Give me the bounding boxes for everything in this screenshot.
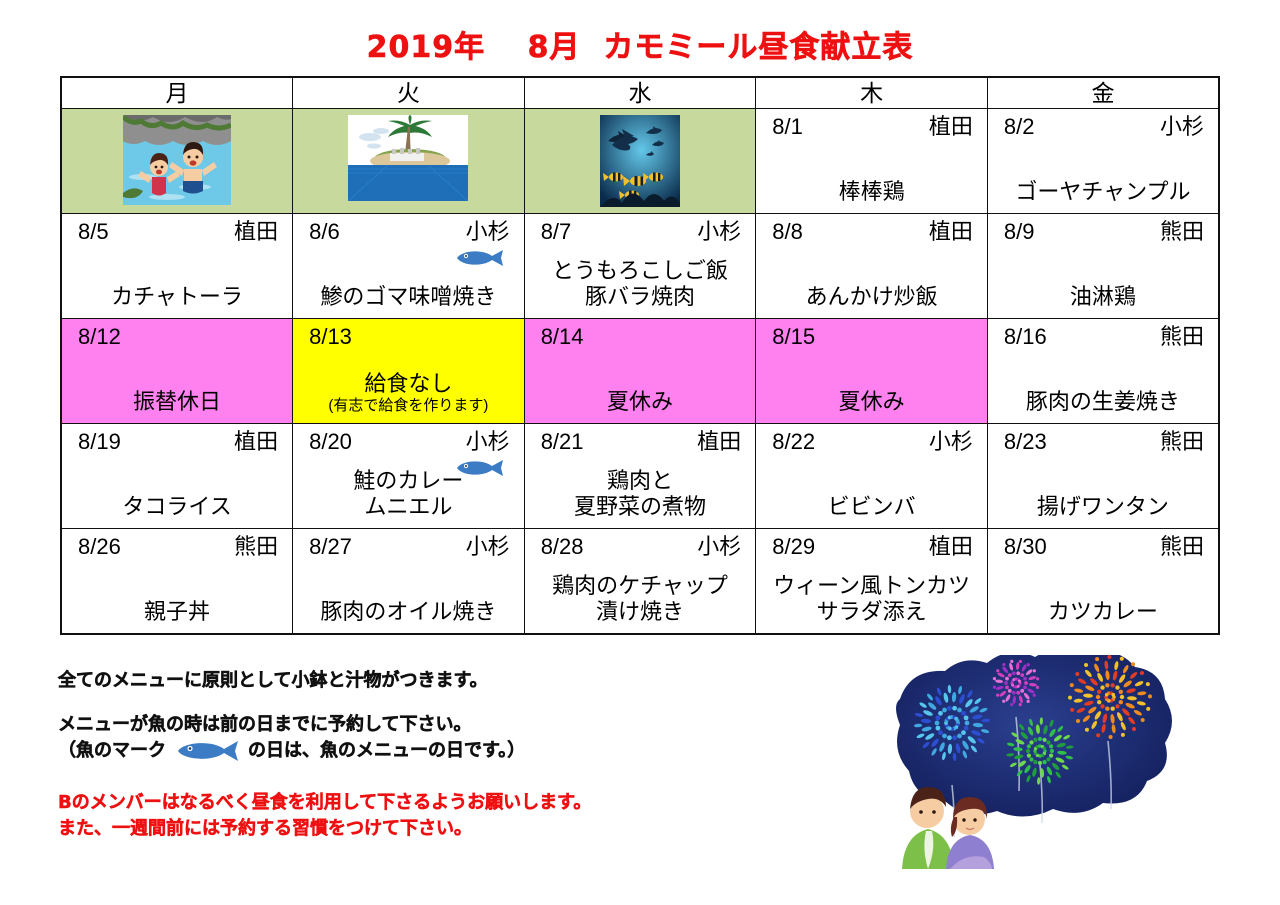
cell-header: 8/12 (62, 319, 292, 351)
cell-chef: 植田 (929, 533, 973, 561)
cell-menu-line2: 豚バラ焼肉 (529, 284, 752, 310)
cell-date: 8/14 (541, 323, 584, 351)
fish-icon (452, 248, 506, 268)
cell-chef: 小杉 (697, 218, 741, 246)
cell-header: 8/5植田 (62, 214, 292, 246)
cell-menu-line1: 鯵のゴマ味噌焼き (320, 284, 496, 309)
cell-chef: 植田 (929, 113, 973, 141)
calendar-cell-8-5[interactable]: 8/5植田カチャトーラ (61, 214, 293, 319)
cell-menu-line1: 豚肉のオイル焼き (320, 599, 496, 624)
weekday-header-thursday: 木 (756, 77, 988, 109)
cell-date: 8/6 (309, 218, 340, 246)
calendar-cell-8-8[interactable]: 8/8植田あんかけ炒飯 (756, 214, 988, 319)
cell-date: 8/9 (1004, 218, 1035, 246)
calendar-cell-8-16[interactable]: 8/16熊田豚肉の生姜焼き (987, 319, 1219, 424)
cell-menu: ゴーヤチャンプル (988, 179, 1218, 205)
page-title: 2019年 8月 カモミール昼食献立表 (0, 0, 1280, 76)
calendar-cell-8-13[interactable]: 8/13給食なし(有志で給食を作ります) (293, 319, 525, 424)
cell-date: 8/20 (309, 428, 352, 456)
cell-menu-line1: ビビンバ (828, 494, 916, 519)
cell-header: 8/15 (756, 319, 987, 351)
cell-menu-line1: ウィーン風トンカツ (773, 573, 970, 598)
cell-header: 8/23熊田 (988, 424, 1218, 456)
cell-header: 8/14 (525, 319, 756, 351)
calendar-week-row: 8/1植田棒棒鶏8/2小杉ゴーヤチャンプル (61, 109, 1219, 214)
cell-header: 8/22小杉 (756, 424, 987, 456)
cell-menu-subnote: (有志で給食を作ります) (297, 397, 520, 415)
cell-menu-line1: 給食なし (364, 371, 452, 396)
cell-menu: 豚肉の生姜焼き (988, 389, 1218, 415)
cell-menu-line1: 振替休日 (133, 389, 221, 414)
cell-header: 8/26熊田 (62, 529, 292, 561)
cell-date: 8/29 (772, 533, 815, 561)
cell-date: 8/28 (541, 533, 584, 561)
cell-menu-line1: 油淋鶏 (1070, 284, 1136, 309)
lunch-menu-calendar: 月 火 水 木 金 8/1植田棒棒鶏8/2小杉ゴーヤチャンプル8/5植田カチャト… (60, 76, 1220, 635)
calendar-cell-8-27[interactable]: 8/27小杉豚肉のオイル焼き (293, 529, 525, 635)
cell-menu: カツカレー (988, 599, 1218, 625)
cell-date: 8/19 (78, 428, 121, 456)
cell-menu: 揚げワンタン (988, 494, 1218, 520)
cell-menu: 鶏肉のケチャップ漬け焼き (525, 573, 756, 625)
cell-header: 8/30熊田 (988, 529, 1218, 561)
cell-date: 8/1 (772, 113, 803, 141)
cell-menu-line1: 親子丼 (144, 599, 210, 624)
calendar-cell-8-7[interactable]: 8/7小杉とうもろこしご飯豚バラ焼肉 (524, 214, 756, 319)
fish-icon (172, 739, 242, 763)
kids-swimming-illustration (62, 115, 292, 205)
calendar-cell-8-22[interactable]: 8/22小杉ビビンバ (756, 424, 988, 529)
weekday-header-wednesday: 水 (524, 77, 756, 109)
cell-chef: 小杉 (466, 428, 510, 456)
cell-date: 8/22 (772, 428, 815, 456)
cell-menu: 夏休み (525, 389, 756, 415)
cell-menu-line1: ゴーヤチャンプル (1015, 179, 1190, 204)
calendar-cell-8-30[interactable]: 8/30熊田カツカレー (987, 529, 1219, 635)
cell-menu-line1: 鮭のカレー (353, 468, 463, 493)
cell-header: 8/28小杉 (525, 529, 756, 561)
cell-date: 8/5 (78, 218, 109, 246)
cell-chef: 小杉 (697, 533, 741, 561)
cell-menu: あんかけ炒飯 (756, 284, 987, 310)
note-fish-mark-legend: （魚のマークの日は、魚のメニューの日です。） (58, 738, 698, 764)
calendar-container: 月 火 水 木 金 8/1植田棒棒鶏8/2小杉ゴーヤチャンプル8/5植田カチャト… (60, 76, 1220, 635)
cell-header: 8/1植田 (756, 109, 987, 141)
cell-date: 8/12 (78, 323, 121, 351)
cell-menu-line1: 揚げワンタン (1037, 494, 1169, 519)
cell-header: 8/16熊田 (988, 319, 1218, 351)
calendar-week-row: 8/19植田タコライス8/20小杉鮭のカレームニエル8/21植田鶏肉と夏野菜の煮… (61, 424, 1219, 529)
cell-menu: とうもろこしご飯豚バラ焼肉 (525, 258, 756, 310)
cell-chef: 小杉 (466, 218, 510, 246)
cell-header: 8/13 (293, 319, 524, 351)
note-fish-reservation: メニューが魚の時は前の日までに予約して下さい。 (58, 712, 698, 738)
cell-header: 8/19植田 (62, 424, 292, 456)
cell-header: 8/27小杉 (293, 529, 524, 561)
weekday-header-monday: 月 (61, 77, 293, 109)
cell-menu-line1: 夏休み (839, 389, 905, 414)
cell-header: 8/7小杉 (525, 214, 756, 246)
cell-menu-line1: とうもろこしご飯 (552, 258, 728, 283)
note-fish-mark-suffix: の日は、魚のメニューの日です。） (248, 740, 525, 761)
fireworks-couple-yukata-illustration (840, 655, 1240, 895)
cell-chef: 熊田 (1160, 218, 1204, 246)
island-palm-tree-illustration (293, 115, 524, 201)
cell-menu: 棒棒鶏 (756, 179, 987, 205)
cell-menu: タコライス (62, 494, 292, 520)
calendar-week-row: 8/12振替休日8/13給食なし(有志で給食を作ります)8/14夏休み8/15夏… (61, 319, 1219, 424)
cell-menu: 親子丼 (62, 599, 292, 625)
cell-menu-line1: 夏休み (607, 389, 673, 414)
calendar-cell-8-15[interactable]: 8/15夏休み (756, 319, 988, 424)
cell-chef: 植田 (697, 428, 741, 456)
cell-menu: 夏休み (756, 389, 987, 415)
cell-menu-line1: カチャトーラ (111, 284, 243, 309)
cell-date: 8/21 (541, 428, 584, 456)
calendar-cell-8-1[interactable]: 8/1植田棒棒鶏 (756, 109, 988, 214)
note-member-request: Bのメンバーはなるべく昼食を利用して下さるようお願いします。 (58, 790, 698, 816)
underwater-fish-illustration (525, 115, 756, 207)
cell-menu: ウィーン風トンカツサラダ添え (756, 573, 987, 625)
cell-chef: 熊田 (234, 533, 278, 561)
cell-menu-line1: カツカレー (1048, 599, 1158, 624)
calendar-cell-8-19[interactable]: 8/19植田タコライス (61, 424, 293, 529)
cell-menu: 鮭のカレームニエル (293, 468, 524, 520)
cell-menu: カチャトーラ (62, 284, 292, 310)
cell-menu: 振替休日 (62, 389, 292, 415)
weekday-header-tuesday: 火 (293, 77, 525, 109)
cell-date: 8/7 (541, 218, 572, 246)
cell-header: 8/9熊田 (988, 214, 1218, 246)
calendar-cell-decoration (293, 109, 525, 214)
cell-chef: 熊田 (1160, 533, 1204, 561)
calendar-week-row: 8/26熊田親子丼8/27小杉豚肉のオイル焼き8/28小杉鶏肉のケチャップ漬け焼… (61, 529, 1219, 635)
cell-date: 8/23 (1004, 428, 1047, 456)
cell-menu-line1: 鶏肉のケチャップ (552, 573, 728, 598)
cell-header: 8/29植田 (756, 529, 987, 561)
cell-chef: 小杉 (929, 428, 973, 456)
cell-menu-line2: サラダ添え (760, 599, 983, 625)
calendar-cell-8-20[interactable]: 8/20小杉鮭のカレームニエル (293, 424, 525, 529)
cell-header: 8/20小杉 (293, 424, 524, 456)
calendar-cell-8-23[interactable]: 8/23熊田揚げワンタン (987, 424, 1219, 529)
cell-chef: 小杉 (1160, 113, 1204, 141)
cell-date: 8/27 (309, 533, 352, 561)
cell-date: 8/30 (1004, 533, 1047, 561)
cell-menu-line2: 漬け焼き (529, 599, 752, 625)
calendar-cell-8-28[interactable]: 8/28小杉鶏肉のケチャップ漬け焼き (524, 529, 756, 635)
note-fish-mark-prefix: （魚のマーク (58, 740, 166, 761)
cell-menu: 豚肉のオイル焼き (293, 599, 524, 625)
cell-menu: 鯵のゴマ味噌焼き (293, 284, 524, 310)
cell-header: 8/8植田 (756, 214, 987, 246)
calendar-cell-8-9[interactable]: 8/9熊田油淋鶏 (987, 214, 1219, 319)
cell-date: 8/15 (772, 323, 815, 351)
note-side-dishes: 全てのメニューに原則として小鉢と汁物がつきます。 (58, 668, 698, 694)
calendar-cell-8-21[interactable]: 8/21植田鶏肉と夏野菜の煮物 (524, 424, 756, 529)
cell-chef: 熊田 (1160, 428, 1204, 456)
calendar-body: 8/1植田棒棒鶏8/2小杉ゴーヤチャンプル8/5植田カチャトーラ8/6小杉鯵のゴ… (61, 109, 1219, 635)
cell-date: 8/2 (1004, 113, 1035, 141)
cell-menu: 鶏肉と夏野菜の煮物 (525, 468, 756, 520)
cell-header: 8/21植田 (525, 424, 756, 456)
cell-menu-line2: 夏野菜の煮物 (529, 494, 752, 520)
calendar-cell-8-29[interactable]: 8/29植田ウィーン風トンカツサラダ添え (756, 529, 988, 635)
calendar-cell-8-12[interactable]: 8/12振替休日 (61, 319, 293, 424)
cell-menu: 油淋鶏 (988, 284, 1218, 310)
calendar-cell-decoration (524, 109, 756, 214)
cell-date: 8/26 (78, 533, 121, 561)
cell-chef: 植田 (234, 218, 278, 246)
calendar-cell-decoration (61, 109, 293, 214)
cell-menu-line1: タコライス (122, 494, 231, 519)
cell-chef: 小杉 (466, 533, 510, 561)
calendar-cell-8-6[interactable]: 8/6小杉鯵のゴマ味噌焼き (293, 214, 525, 319)
calendar-cell-8-14[interactable]: 8/14夏休み (524, 319, 756, 424)
cell-menu: ビビンバ (756, 494, 987, 520)
weekday-header-friday: 金 (987, 77, 1219, 109)
cell-chef: 植田 (929, 218, 973, 246)
notes-section: 全てのメニューに原則として小鉢と汁物がつきます。 メニューが魚の時は前の日までに… (58, 668, 698, 842)
cell-date: 8/16 (1004, 323, 1047, 351)
cell-header: 8/6小杉 (293, 214, 524, 246)
cell-menu-line1: 棒棒鶏 (839, 179, 905, 204)
calendar-cell-8-2[interactable]: 8/2小杉ゴーヤチャンプル (987, 109, 1219, 214)
cell-date: 8/13 (309, 323, 352, 351)
cell-menu-line1: 鶏肉と (607, 468, 673, 493)
cell-header: 8/2小杉 (988, 109, 1218, 141)
weekday-header-row: 月 火 水 木 金 (61, 77, 1219, 109)
cell-chef: 熊田 (1160, 323, 1204, 351)
note-weekly-reservation: また、一週間前には予約する習慣をつけて下さい。 (58, 816, 698, 842)
calendar-week-row: 8/5植田カチャトーラ8/6小杉鯵のゴマ味噌焼き8/7小杉とうもろこしご飯豚バラ… (61, 214, 1219, 319)
cell-date: 8/8 (772, 218, 803, 246)
cell-menu-line1: 豚肉の生姜焼き (1026, 389, 1180, 414)
cell-menu-line2: ムニエル (297, 494, 520, 520)
calendar-cell-8-26[interactable]: 8/26熊田親子丼 (61, 529, 293, 635)
cell-menu-line1: あんかけ炒飯 (806, 284, 938, 309)
cell-menu: 給食なし(有志で給食を作ります) (293, 371, 524, 415)
cell-chef: 植田 (234, 428, 278, 456)
